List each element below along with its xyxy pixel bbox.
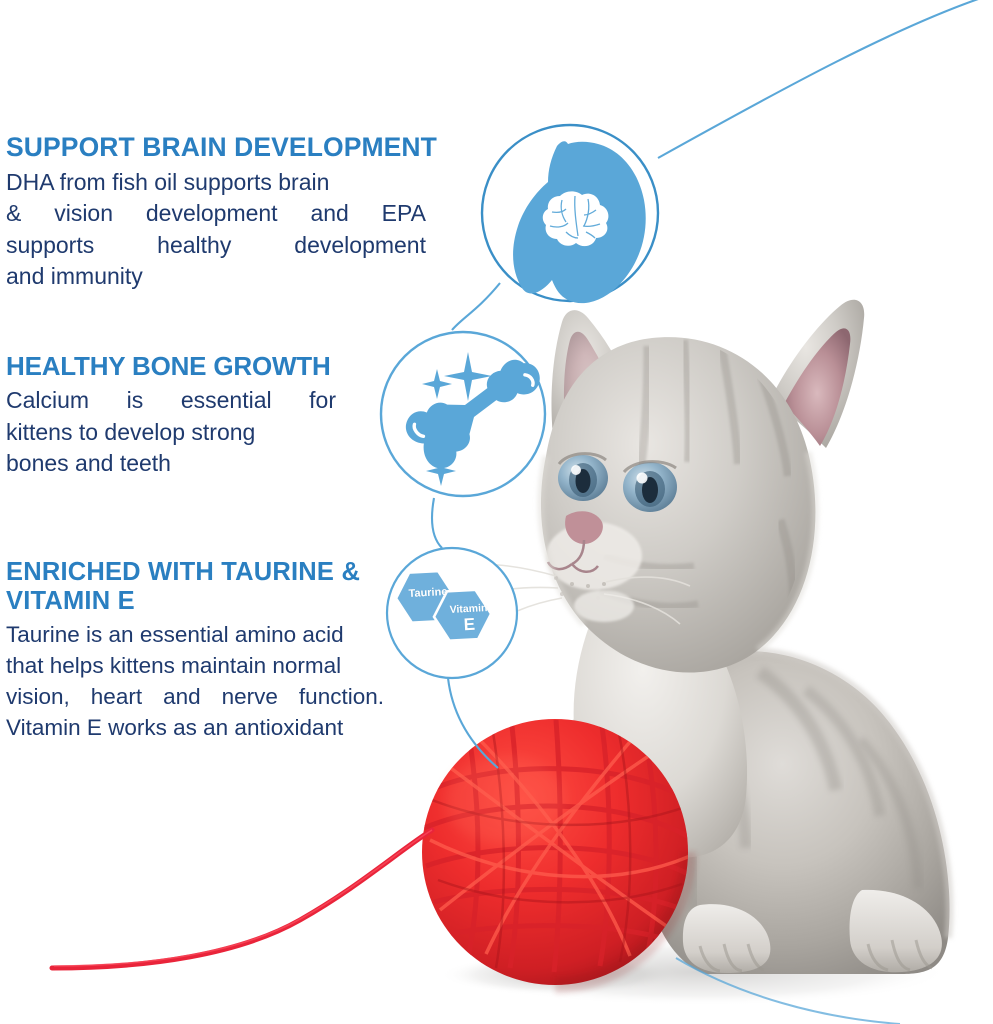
benefit-body-brain: DHA from fish oil supports brain & visio… (6, 167, 426, 293)
benefit-line: vision, heart and nerve function. (6, 681, 384, 712)
benefit-heading-bone: HEALTHY BONE GROWTH (6, 352, 381, 381)
benefit-body-bone: Calcium is essential for kittens to deve… (6, 385, 336, 480)
icon-badge-brain (482, 125, 658, 303)
benefit-line: & vision development and EPA (6, 198, 426, 230)
benefits-text-column: SUPPORT BRAIN DEVELOPMENT DHA from fish … (0, 0, 470, 1024)
benefit-line: Vitamin E works as an antioxidant (6, 712, 384, 743)
benefit-line: bones and teeth (6, 448, 336, 480)
benefit-heading-brain: SUPPORT BRAIN DEVELOPMENT (6, 133, 486, 163)
benefit-line: Calcium is essential for (6, 385, 336, 417)
benefit-line: supports healthy development (6, 230, 426, 262)
benefit-line: DHA from fish oil supports brain (6, 167, 426, 199)
benefit-line: Taurine is an essential amino acid (6, 619, 384, 650)
infographic-canvas: Taurine Vitamin E SUPPORT BRAIN DEVELOPM… (0, 0, 993, 1024)
benefit-block-bone: HEALTHY BONE GROWTH Calcium is essential… (6, 352, 381, 480)
benefit-line: and immunity (6, 261, 426, 293)
benefit-block-brain: SUPPORT BRAIN DEVELOPMENT DHA from fish … (6, 133, 486, 293)
connector-top (658, 0, 993, 158)
benefit-line: kittens to develop strong (6, 417, 336, 449)
benefit-heading-taurine: ENRICHED WITH TAURINE & VITAMIN E (6, 558, 388, 615)
benefit-line: that helps kittens maintain normal (6, 650, 384, 681)
connector-bottom (676, 958, 900, 1024)
benefit-body-taurine: Taurine is an essential amino acid that … (6, 619, 384, 743)
benefit-heading-line: ENRICHED WITH TAURINE (6, 558, 334, 586)
benefit-block-taurine: ENRICHED WITH TAURINE & VITAMIN E Taurin… (6, 558, 388, 743)
